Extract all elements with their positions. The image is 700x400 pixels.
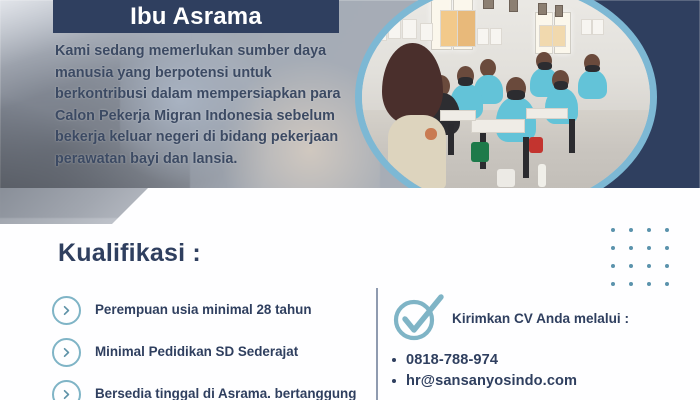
photo-bottle <box>538 164 547 186</box>
photo-bag <box>497 169 514 187</box>
chevron-right-icon <box>52 296 81 325</box>
list-item: Bersedia tinggal di Asrama. bertanggung … <box>52 382 362 400</box>
dot-icon <box>629 228 633 232</box>
contact-label: Kirimkan CV Anda melalui : <box>452 311 629 326</box>
photo-wall-paper <box>581 19 592 36</box>
qualifications-heading: Kualifikasi : <box>58 239 201 268</box>
classroom-photo-ring <box>355 0 657 216</box>
dot-icon <box>629 246 633 250</box>
photo-wall-paper <box>592 19 603 36</box>
photo-student-mask <box>458 77 473 86</box>
photo-desk <box>471 119 525 132</box>
contact-email[interactable]: hr@sansanyosindo.com <box>406 373 577 389</box>
photo-student-mask <box>585 65 599 73</box>
photo-wall-paper <box>477 28 489 46</box>
photo-teacher-hand <box>425 128 437 139</box>
photo-wall-frame <box>538 3 547 15</box>
photo-chair <box>569 119 575 153</box>
photo-wall-paper <box>388 19 402 39</box>
photo-wall-frame <box>509 0 518 12</box>
dot-icon <box>647 246 651 250</box>
photo-chair <box>448 124 454 155</box>
photo-wall-frame <box>483 0 494 9</box>
photo-student-mask <box>538 62 552 70</box>
dot-icon <box>611 228 615 232</box>
list-item: Minimal Pedidikan SD Sederajat <box>52 340 362 367</box>
poster-title-bar: Ibu Asrama <box>53 0 339 33</box>
intro-paragraph: Kami sedang memerlukan sumber daya manus… <box>55 41 347 170</box>
qualification-text: Perempuan usia minimal 28 tahun <box>95 298 312 319</box>
qualification-text: Bersedia tinggal di Asrama. bertanggung … <box>95 382 362 400</box>
photo-desk <box>526 108 568 119</box>
chevron-right-icon <box>52 380 81 400</box>
photo-teacher-body <box>388 115 446 191</box>
photo-wall-chart <box>457 10 476 48</box>
dot-icon <box>611 264 615 268</box>
dot-icon <box>647 228 651 232</box>
photo-student-body <box>578 70 607 99</box>
photo-wall-paper <box>374 21 388 41</box>
check-circle-icon <box>392 294 444 342</box>
dot-icon <box>665 282 669 286</box>
photo-desk <box>440 110 477 121</box>
photo-wall-chart <box>552 25 566 47</box>
dot-icon <box>629 282 633 286</box>
photo-student-mask <box>554 81 569 90</box>
photo-wall-frame <box>555 5 563 17</box>
photo-bag <box>471 142 488 162</box>
list-item: hr@sansanyosindo.com <box>392 373 692 389</box>
contact-phone[interactable]: 0818-788-974 <box>406 352 498 368</box>
photo-wall-chart <box>539 25 553 47</box>
dot-grid-decoration <box>611 228 669 286</box>
dot-icon <box>611 246 615 250</box>
dot-icon <box>611 282 615 286</box>
chevron-right-icon <box>52 338 81 367</box>
dot-icon <box>665 228 669 232</box>
bullet-icon <box>392 358 396 362</box>
list-item: Perempuan usia minimal 28 tahun <box>52 298 362 325</box>
photo-student-mask <box>507 90 524 100</box>
vertical-divider <box>376 288 378 400</box>
classroom-photo <box>362 0 650 209</box>
dot-icon <box>665 246 669 250</box>
photo-wall-paper <box>402 19 417 39</box>
dot-icon <box>647 264 651 268</box>
dot-icon <box>665 264 669 268</box>
list-item: 0818-788-974 <box>392 352 692 368</box>
qualifications-list: Perempuan usia minimal 28 tahun Minimal … <box>52 298 362 400</box>
photo-wall-paper <box>420 23 434 41</box>
recruitment-poster: Ibu Asrama Kami sedang memerlukan sumber… <box>0 0 700 400</box>
photo-wall-paper <box>490 28 502 46</box>
dot-icon <box>629 264 633 268</box>
photo-bag <box>529 137 543 153</box>
page-title: Ibu Asrama <box>130 5 262 29</box>
qualification-text: Minimal Pedidikan SD Sederajat <box>95 340 298 361</box>
contact-list: 0818-788-974 hr@sansanyosindo.com <box>392 352 692 394</box>
bullet-icon <box>392 379 396 383</box>
photo-teacher-hijab <box>382 43 442 124</box>
dot-icon <box>647 282 651 286</box>
